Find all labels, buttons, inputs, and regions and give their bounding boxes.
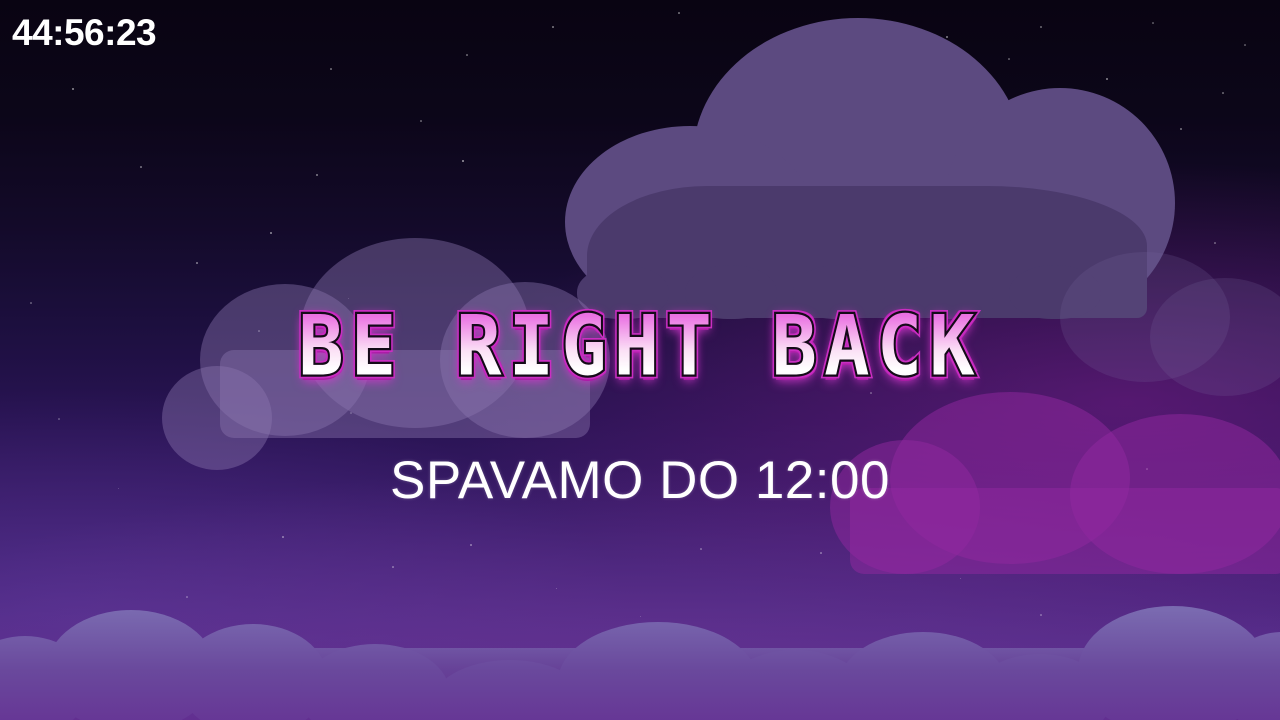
star: [140, 166, 142, 168]
bottom-glow-wash: [0, 610, 1280, 720]
star: [1180, 128, 1182, 130]
brb-title-fill-layer: BE RIGHT BACK: [298, 298, 982, 394]
star: [58, 418, 60, 420]
star: [552, 26, 554, 28]
star: [330, 68, 332, 70]
brb-title: BE RIGHT BACK BE RIGHT BACK BE RIGHT BAC…: [298, 304, 982, 391]
star: [282, 536, 284, 538]
star: [1244, 44, 1246, 46]
star: [1222, 92, 1224, 94]
star: [820, 552, 822, 554]
star: [392, 566, 394, 568]
countdown-timer: 44:56:23: [12, 14, 156, 51]
title-container: BE RIGHT BACK BE RIGHT BACK BE RIGHT BAC…: [0, 304, 1280, 382]
star: [462, 160, 464, 162]
star: [678, 12, 680, 14]
star: [466, 54, 468, 56]
star: [270, 232, 272, 234]
star: [72, 88, 74, 90]
brb-screen: 44:56:23 BE RIGHT BACK BE RIGHT BACK BE …: [0, 0, 1280, 720]
star: [420, 120, 422, 122]
brb-subtitle: SPAVAMO DO 12:00: [0, 454, 1280, 507]
star: [1214, 242, 1216, 244]
star: [316, 174, 318, 176]
star: [470, 544, 472, 546]
star: [700, 548, 702, 550]
